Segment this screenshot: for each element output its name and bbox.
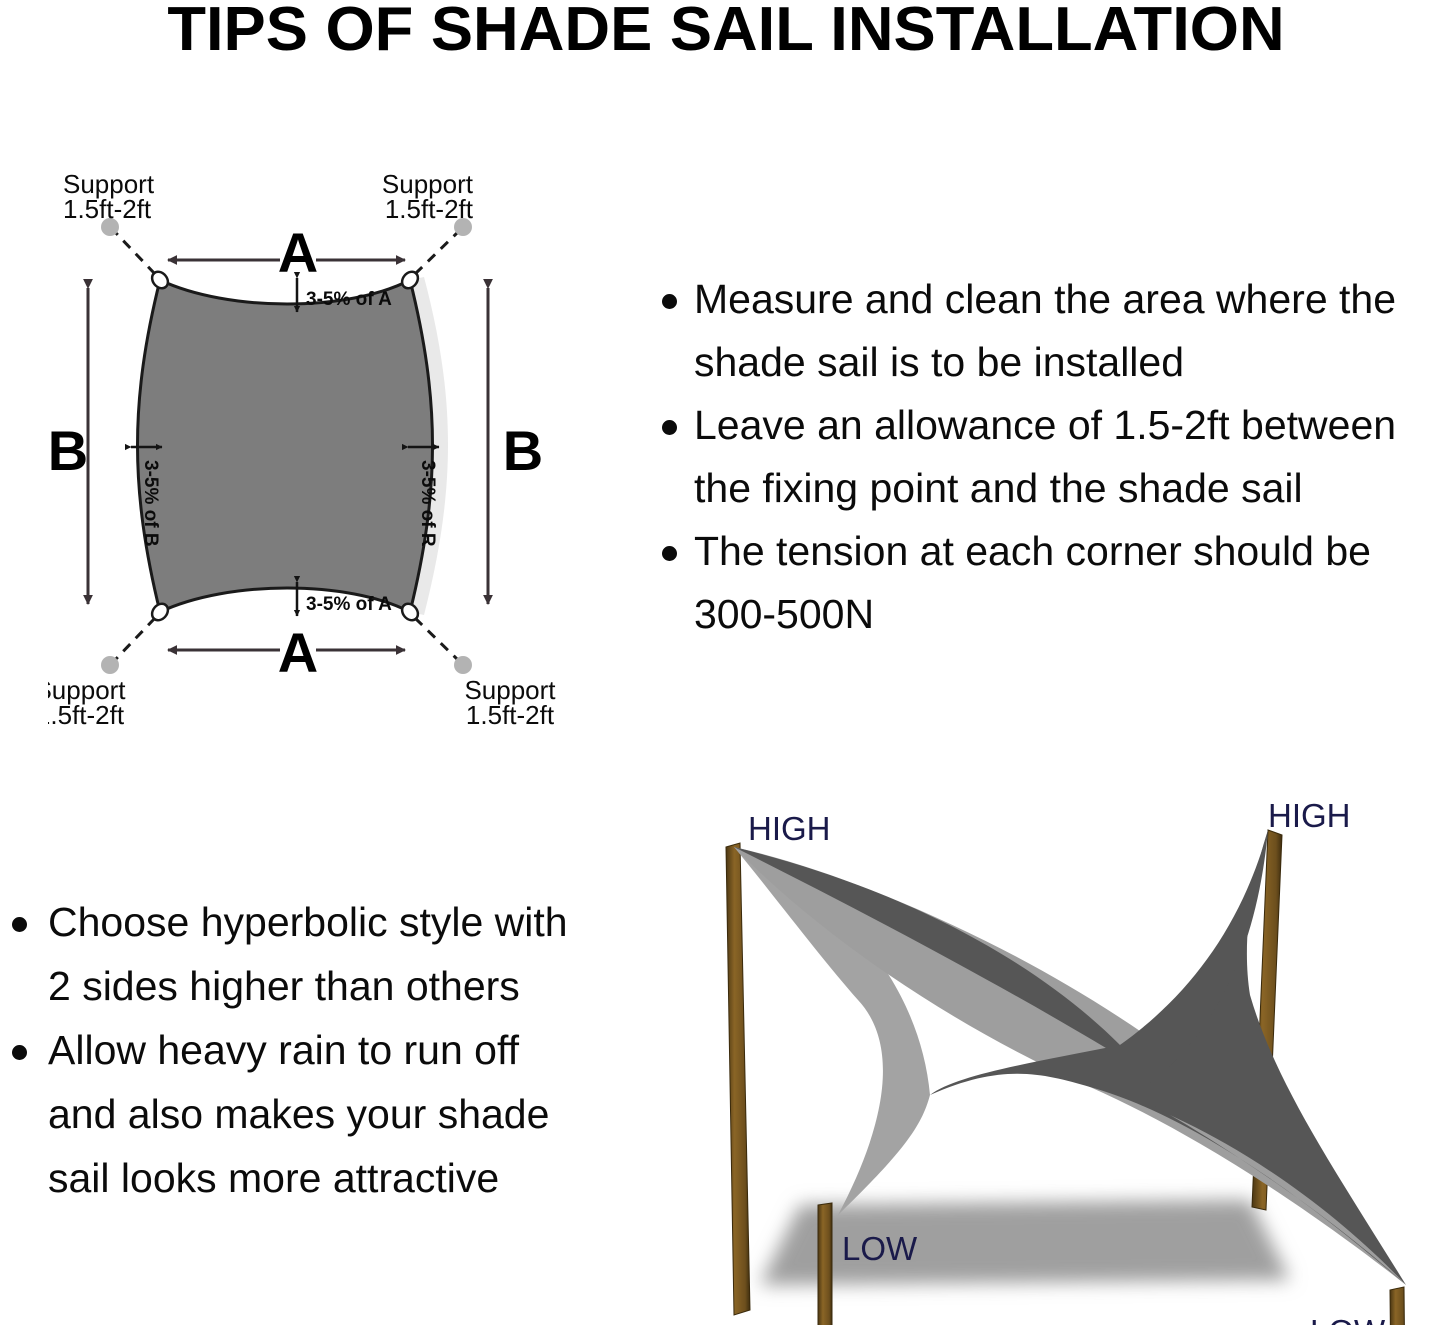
tip-line: shade sail is to be installed (694, 339, 1184, 385)
tip-line: the fixing point and the shade sail (694, 465, 1303, 511)
curve-label-bottom: 3-5% of A (306, 594, 392, 615)
dimension-label-top-a: A (278, 221, 318, 284)
support-dot-bottom-left (101, 656, 119, 674)
tips-bottom-bullets: Choose hyperbolic style with 2 sides hig… (0, 890, 630, 1210)
hyperbolic-illustration: HIGH HIGH LOW LOW (690, 795, 1452, 1325)
support-label-bottom-right-line2: 1.5ft-2ft (466, 700, 555, 730)
support-cord-bottom-left (115, 618, 155, 660)
tips-list-top: Measure and clean the area where the sha… (648, 268, 1452, 646)
tip-line: 2 sides higher than others (48, 963, 520, 1009)
tip-line: Measure and clean the area where the (694, 276, 1396, 322)
support-dot-bottom-right (454, 656, 472, 674)
support-label-bottom-right: Support 1.5ft-2ft (464, 675, 556, 730)
label-high-right: HIGH (1268, 797, 1351, 834)
support-label-top-left: Support 1.5ft-2ft (63, 169, 155, 224)
support-label-top-left-line2: 1.5ft-2ft (63, 194, 152, 224)
support-label-bottom-left-line2: 1.5ft-2ft (48, 700, 125, 730)
tip-line: Leave an allowance of 1.5-2ft between (694, 402, 1396, 448)
support-cord-bottom-right (415, 618, 458, 660)
tip-line: Allow heavy rain to run off (48, 1027, 519, 1073)
tip-line: sail looks more attractive (48, 1155, 499, 1201)
post-back-left (726, 843, 750, 1315)
sail-body (138, 280, 433, 612)
label-low-right: LOW (1310, 1313, 1386, 1325)
list-item: Leave an allowance of 1.5-2ft between th… (648, 394, 1452, 520)
tips-top-bullets: Measure and clean the area where the sha… (648, 268, 1452, 646)
tips-list-bottom: Choose hyperbolic style with 2 sides hig… (0, 890, 630, 1210)
dimension-label-left-b: B (48, 419, 88, 482)
support-label-bottom-left: Support 1.5ft-2ft (48, 675, 126, 730)
label-high-left: HIGH (748, 810, 831, 847)
support-cord-top-right (415, 232, 458, 274)
list-item: The tension at each corner should be 300… (648, 520, 1452, 646)
dimension-label-bottom-a: A (278, 621, 318, 684)
list-item: Choose hyperbolic style with 2 sides hig… (0, 890, 630, 1018)
post-front-left (818, 1203, 832, 1325)
tip-line: Choose hyperbolic style with (48, 899, 568, 945)
support-label-top-right-line2: 1.5ft-2ft (385, 194, 474, 224)
post-front-right (1390, 1287, 1406, 1325)
label-low-left: LOW (842, 1230, 918, 1267)
curve-label-right: 3-5% of R (417, 460, 438, 547)
page-title: TIPS OF SHADE SAIL INSTALLATION (0, 0, 1452, 65)
list-item: Measure and clean the area where the sha… (648, 268, 1452, 394)
dimension-label-right-b: B (503, 419, 543, 482)
tip-line: and also makes your shade (48, 1091, 549, 1137)
tip-line: The tension at each corner should be (694, 528, 1371, 574)
tip-line: 300-500N (694, 591, 874, 637)
support-label-top-right: Support 1.5ft-2ft (382, 169, 474, 224)
list-item: Allow heavy rain to run off and also mak… (0, 1018, 630, 1210)
sail-diagram: A A B B 3-5% of A 3-5% of A 3-5% of B 3-… (48, 160, 648, 740)
curve-label-top: 3-5% of A (306, 289, 392, 310)
curve-label-left: 3-5% of B (140, 460, 161, 547)
support-cord-top-left (115, 232, 155, 274)
